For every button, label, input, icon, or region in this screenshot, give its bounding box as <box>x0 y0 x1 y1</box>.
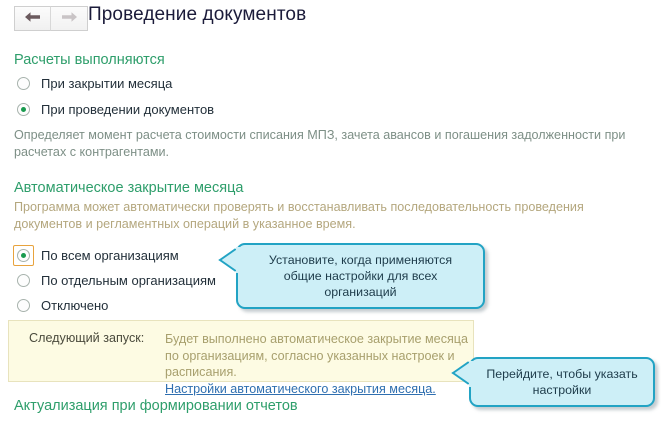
radio-label: Отключено <box>41 298 108 313</box>
auto-close-description: Программа может автоматически проверять … <box>14 199 634 233</box>
radio-disabled[interactable]: Отключено <box>17 298 108 313</box>
radio-calc-on-posting[interactable]: При проведении документов <box>17 102 214 117</box>
section-heading-calculations: Расчеты выполняются <box>14 52 165 68</box>
radio-control[interactable] <box>17 103 30 116</box>
back-button[interactable] <box>14 6 51 31</box>
callout-text: Перейдите, чтобы указать настройки <box>486 366 637 398</box>
radio-all-organizations[interactable]: По всем организациям <box>17 248 179 263</box>
focus-outline <box>13 245 34 266</box>
callout-pointer-mask <box>469 361 475 387</box>
radio-circle-selected-icon <box>17 103 30 116</box>
radio-control[interactable] <box>17 249 30 262</box>
arrow-right-icon <box>61 10 78 28</box>
radio-circle-icon <box>17 299 30 312</box>
radio-circle-icon <box>17 274 30 287</box>
next-run-label: Следующий запуск: <box>29 331 144 345</box>
callout-text: Установите, когда применяются общие наст… <box>269 252 452 300</box>
radio-label: При проведении документов <box>41 102 214 117</box>
callout-all-organizations: Установите, когда применяются общие наст… <box>236 243 485 309</box>
calculations-description: Определяет момент расчета стоимости спис… <box>14 127 634 161</box>
radio-label: При закрытии месяца <box>41 76 172 91</box>
radio-label: По всем организациям <box>41 248 179 263</box>
auto-close-settings-link[interactable]: Настройки автоматического закрытия месяц… <box>165 381 436 398</box>
radio-control[interactable] <box>17 274 30 287</box>
radio-control[interactable] <box>17 77 30 90</box>
callout-pointer <box>218 248 251 271</box>
radio-separate-organizations[interactable]: По отдельным организациям <box>17 273 216 288</box>
next-run-panel: Следующий запуск: Будет выполнено автома… <box>8 320 474 382</box>
section-heading-auto-close: Автоматическое закрытие месяца <box>14 180 243 196</box>
radio-label: По отдельным организациям <box>41 273 216 288</box>
section-heading-reports-actualization: Актуализация при формировании отчетов <box>14 398 298 414</box>
callout-pointer-mask <box>236 247 242 273</box>
settings-page: Проведение документов Расчеты выполняютс… <box>0 0 661 422</box>
navigation-buttons <box>14 6 88 31</box>
page-title: Проведение документов <box>88 4 306 26</box>
forward-button[interactable] <box>51 6 88 31</box>
page-header: Проведение документов <box>0 0 661 40</box>
arrow-left-icon <box>24 10 41 28</box>
next-run-text: Будет выполнено автоматическое закрытие … <box>165 331 475 397</box>
radio-control[interactable] <box>17 299 30 312</box>
callout-settings-link: Перейдите, чтобы указать настройки <box>469 357 655 407</box>
radio-circle-icon <box>17 77 30 90</box>
radio-calc-month-close[interactable]: При закрытии месяца <box>17 76 172 91</box>
